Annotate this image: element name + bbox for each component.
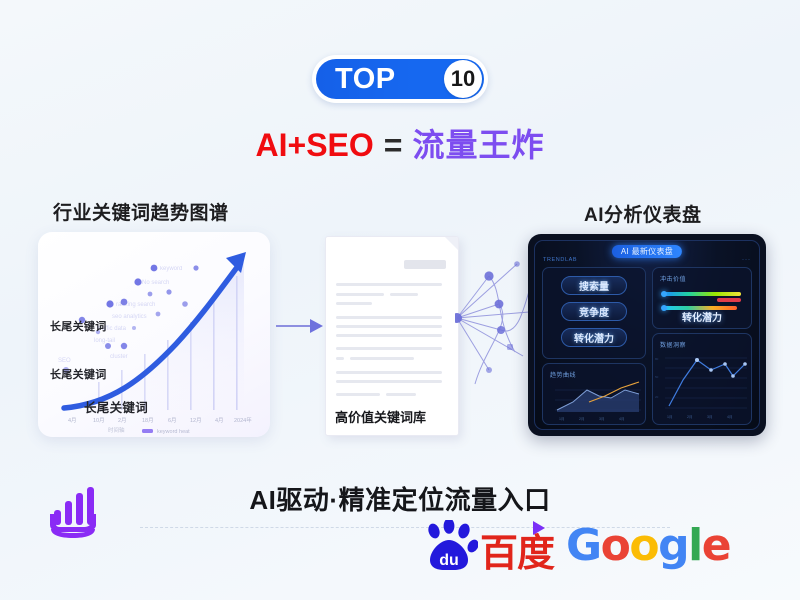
svg-text:12月: 12月 [190,417,202,424]
doc-line [336,283,442,286]
heat-panel-overlay-label: 转化潜力 [682,309,722,324]
google-letter-e: e [702,520,730,571]
doc-line [386,393,416,396]
trend-chart-svg: keyword No search ranking search seo ana… [38,232,270,437]
svg-text:80: 80 [655,357,659,361]
chart-axis-note: 时间轴 [108,426,125,434]
doc-folded-corner-icon [445,237,458,250]
heat-gradient-bar-1 [663,292,741,296]
left-section-caption: 行业关键词趋势图谱 [53,198,229,225]
dashboard-kpi-panel: 搜索量 竞争度 转化潜力 [542,267,646,359]
doc-line [336,371,442,374]
svg-text:No search: No search [142,280,169,286]
badge-number-circle: 10 [444,60,482,98]
title-part-ai-seo: AI+SEO [256,127,374,163]
kpi-competition[interactable]: 竞争度 [561,302,627,321]
kpi-conversion-potential[interactable]: 转化潜力 [561,328,627,347]
chart-legend: keyword heat [142,429,190,435]
right-section-caption: AI分析仪表盘 [584,200,702,227]
svg-text:3月: 3月 [707,414,712,419]
doc-line [336,302,372,305]
dashboard-insight-panel: 数据洞察 [652,333,752,425]
svg-text:3月: 3月 [599,416,604,421]
baidu-wordmark: 百度 [480,536,554,572]
bottom-slogan: AI驱动·精准定位流量入口 [0,480,800,517]
chart-x-ticks: 4月 10月 2月 18月 6月 12月 4月 2024年 [68,416,252,424]
trend-label-3: 长尾关键词 [84,397,148,416]
svg-text:long-tail: long-tail [94,338,115,344]
svg-text:50: 50 [655,375,659,379]
top-rank-badge: TOP 10 [312,55,488,103]
google-letter-g1: G [566,520,601,571]
dashboard-menu-icon[interactable]: ··· [742,257,751,263]
svg-text:10月: 10月 [93,417,105,424]
keyword-document-card: 高价值关键词库 [325,236,459,436]
svg-text:du: du [439,552,459,569]
doc-line [336,347,442,350]
poster-canvas: TOP 10 AI+SEO=流量王炸 行业关键词趋势图谱 AI分析仪表盘 [0,0,800,600]
svg-text:2月: 2月 [579,416,584,421]
doc-line [350,357,414,360]
svg-text:2024年: 2024年 [234,416,252,424]
title-part-traffic: 流量王炸 [412,127,544,163]
google-letter-o2: o [629,520,658,571]
dashboard-area-panel: 趋势曲线 1月2月 3月4月 [542,363,646,425]
svg-text:1月: 1月 [667,414,672,419]
badge-pill: TOP 10 [316,59,484,99]
svg-text:SEO: SEO [58,358,71,364]
heat-alert-badge [717,298,741,302]
google-letter-l: l [688,520,702,571]
baidu-paw-icon: du [424,520,478,572]
svg-text:seo analytics: seo analytics [112,314,147,320]
dashboard-brand: TRENDLAB [543,257,577,263]
doc-line [336,334,442,337]
area-panel-title: 趋势曲线 [550,370,576,379]
google-letter-g2: g [658,520,688,571]
kpi-search-volume[interactable]: 搜索量 [561,276,627,295]
search-engine-logos: du 百度 Google [424,520,730,572]
ai-dashboard-card: AI 最新仪表盘 TRENDLAB ··· 搜索量 竞争度 转化潜力 趋势曲线 [528,234,766,436]
svg-text:1月: 1月 [559,416,564,421]
svg-text:2月: 2月 [118,417,127,424]
keyword-network-graph [455,252,535,392]
heat-bar-handle-1[interactable] [661,291,667,297]
svg-text:2月: 2月 [687,414,692,419]
doc-bullet [336,357,344,360]
page-title: AI+SEO=流量王炸 [0,128,800,163]
svg-text:4月: 4月 [215,417,224,424]
doc-line [336,316,442,319]
doc-line [390,293,418,296]
svg-text:6月: 6月 [168,417,177,424]
doc-line [336,393,380,396]
doc-title: 高价值关键词库 [335,407,426,426]
svg-text:4月: 4月 [727,414,732,419]
svg-text:keyword heat: keyword heat [157,429,190,435]
play-arrow-icon [533,521,545,535]
dashboard-heat-panel: 冲击价值 转化潜力 [652,267,752,329]
doc-header-chip [404,260,446,269]
svg-text:20: 20 [655,395,659,399]
chart-wordcloud: keyword No search ranking search seo ana… [58,266,182,364]
dashboard-header-pill: AI 最新仪表盘 [612,245,682,258]
doc-line [336,380,442,383]
google-letter-o1: o [601,520,630,571]
doc-line [336,293,384,296]
trend-label-1: 长尾关键词 [50,318,107,334]
doc-line [336,325,442,328]
svg-text:4月: 4月 [619,416,624,421]
badge-number: 10 [451,68,475,90]
badge-label: TOP [335,65,396,94]
svg-text:cluster: cluster [110,354,128,360]
insight-panel-title: 数据洞察 [660,340,686,349]
dashboard-screen: AI 最新仪表盘 TRENDLAB ··· 搜索量 竞争度 转化潜力 趋势曲线 [534,240,760,430]
svg-text:18月: 18月 [142,417,154,424]
svg-text:4月: 4月 [68,417,77,424]
svg-text:keyword: keyword [160,266,182,272]
title-equals-sign: = [384,127,403,163]
heat-panel-title: 冲击价值 [660,274,686,283]
trend-label-2: 长尾关键词 [50,366,107,382]
svg-text:ranking search: ranking search [116,302,155,308]
heat-bar-handle-2[interactable] [661,305,667,311]
flow-arrow-icon [276,318,324,339]
google-logo: Google [566,520,730,571]
trend-chart-card: keyword No search ranking search seo ana… [38,232,270,437]
